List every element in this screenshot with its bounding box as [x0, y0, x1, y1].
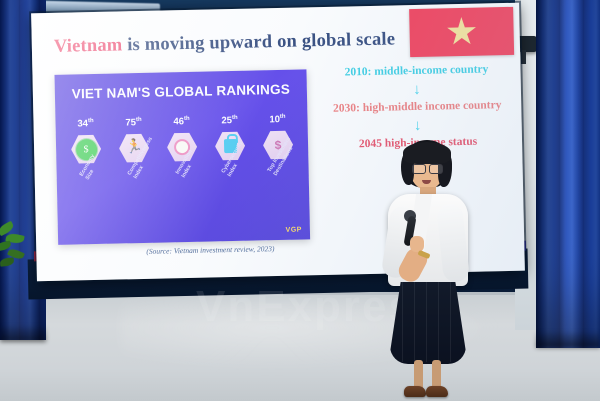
curtain-right-shading [536, 0, 600, 348]
rank-badge: 46th [173, 116, 189, 128]
rank-suffix: th [88, 118, 94, 124]
ranking-label-row: Economy Size Competitiveness Index Innov… [63, 165, 308, 232]
presentation-photo: Vietnam is moving upward on global scale… [0, 0, 600, 401]
slide-title-rest: is moving upward on global scale [122, 29, 395, 55]
speaker-figure [374, 140, 482, 396]
curtain-right-hem [536, 332, 600, 348]
shoe-left [404, 386, 426, 397]
rank-badge: 75th [125, 117, 141, 129]
rank-badge-row: 34th 75th 46th 25th 10th [61, 113, 301, 129]
vgp-logo: VGP [286, 226, 302, 233]
roadmap-down-arrow-icon: ↓ [320, 116, 516, 135]
roadmap-step-2010: 2010: middle-income country [318, 63, 514, 81]
rank-badge: 25th [221, 115, 237, 127]
rank-badge: 34th [77, 118, 93, 130]
slide-title-highlight: Vietnam [54, 35, 123, 56]
roadmap-down-arrow-icon: ↓ [319, 81, 515, 100]
roadmap-step-2030: 2030: high-middle income country [319, 99, 515, 117]
shoe-right [426, 386, 448, 397]
hair-front [403, 142, 451, 164]
rankings-panel: VIET NAM'S GLOBAL RANKINGS 34th 75th 46t… [54, 69, 310, 244]
rank-suffix: th [280, 114, 286, 120]
flag-star-icon [446, 17, 477, 48]
rank-badge: 10th [269, 114, 285, 126]
vietnam-flag-icon [409, 7, 514, 57]
rank-suffix: th [136, 117, 142, 123]
hand [410, 236, 424, 252]
slide-source-note: (Source: Vietnam investment review, 2023… [146, 244, 274, 256]
slide-title: Vietnam is moving upward on global scale [54, 29, 396, 57]
rank-suffix: th [232, 115, 238, 121]
camera-mount-arm [521, 50, 526, 64]
glasses-icon [412, 164, 442, 172]
rank-suffix: th [184, 116, 190, 122]
curtain-left-hem [0, 326, 46, 342]
rankings-panel-heading: VIET NAM'S GLOBAL RANKINGS [55, 81, 307, 101]
